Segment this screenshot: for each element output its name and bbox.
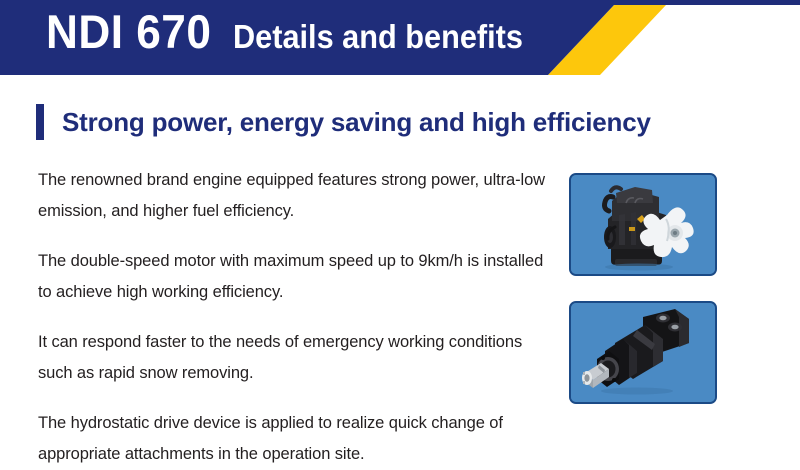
diesel-engine-photo-panel [569,173,717,276]
feature-paragraph: The double-speed motor with maximum spee… [38,246,548,308]
section-heading-text: Strong power, energy saving and high eff… [62,103,651,141]
feature-paragraph: The renowned brand engine equipped featu… [38,165,548,227]
hydraulic-motor-photo-panel [569,301,717,404]
hydraulic-motor-illustration [571,303,715,402]
section-heading: Strong power, energy saving and high eff… [36,103,651,141]
diesel-engine-illustration [571,175,715,274]
feature-paragraph: The hydrostatic drive device is applied … [38,408,548,470]
header-banner: NDI 670 Details and benefits [0,0,800,79]
heading-accent-bar [36,104,44,140]
product-detail-slide: NDI 670 Details and benefits Strong powe… [0,0,800,447]
feature-text-column: The renowned brand engine equipped featu… [38,165,548,470]
product-model-title: NDI 670 [46,8,211,55]
header-title-group: NDI 670 Details and benefits [46,8,545,70]
header-subtitle: Details and benefits [233,20,523,53]
feature-paragraph: It can respond faster to the needs of em… [38,327,548,389]
